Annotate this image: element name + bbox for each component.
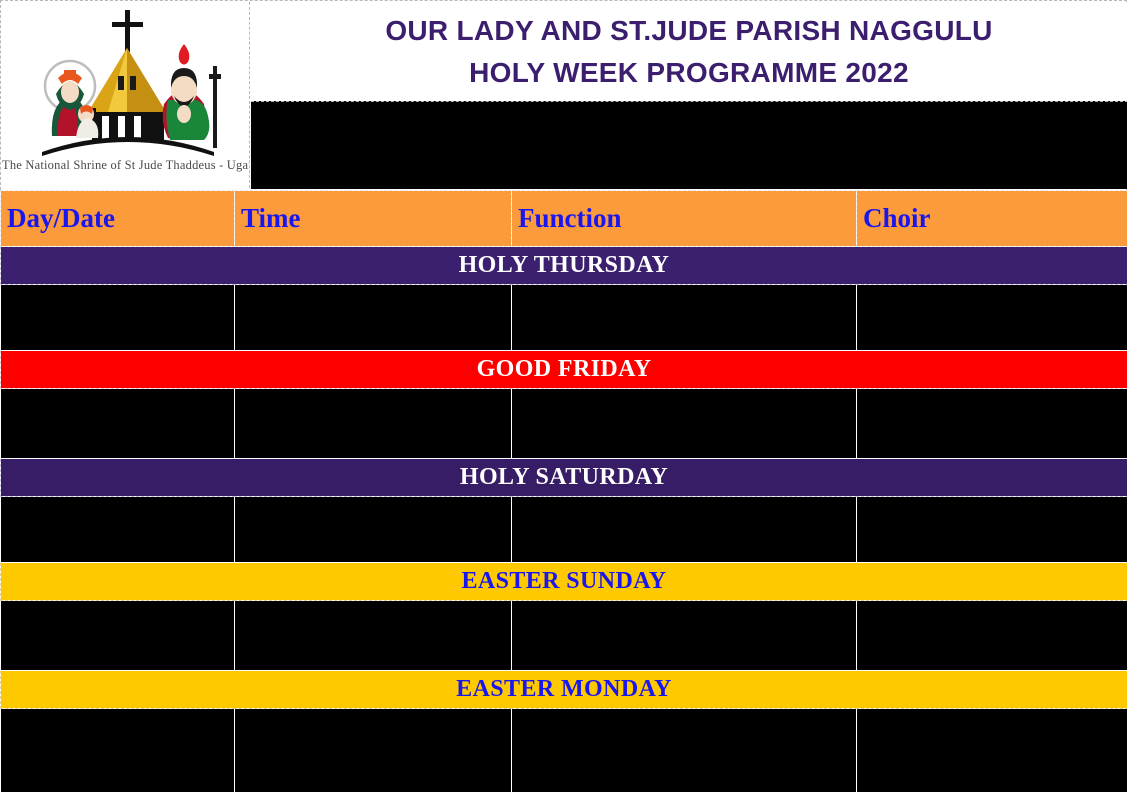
cell-choir [857,285,1127,351]
document-header: The National Shrine of St Jude Thaddeus … [0,0,1127,190]
cell-function [512,285,857,351]
column-header-time: Time [235,191,512,247]
table-row [1,497,1127,563]
column-header-choir: Choir [857,191,1127,247]
cell-function [512,709,857,793]
cell-time [235,497,512,563]
cross-icon [112,10,143,52]
table-row [1,389,1127,459]
section-banner-good-friday: GOOD FRIDAY [1,351,1127,389]
section-banner-label-easter-sunday: EASTER SUNDAY [1,563,1127,601]
section-banner-label-good-friday: GOOD FRIDAY [1,351,1127,389]
our-lady-figure-icon [45,61,98,138]
cell-time [235,601,512,671]
st-jude-figure-icon [163,44,221,148]
table-row [1,601,1127,671]
section-banner-easter-monday: EASTER MONDAY [1,671,1127,709]
cell-function [512,497,857,563]
logo-caption: The National Shrine of St Jude Thaddeus … [2,158,250,173]
section-banner-label-holy-saturday: HOLY SATURDAY [1,459,1127,497]
cell-function [512,389,857,459]
flame-icon [179,44,190,65]
column-header-day-date: Day/Date [1,191,235,247]
holy-week-schedule-table: Day/Date Time Function Choir HOLY THURSD… [0,190,1127,793]
logo-cell: The National Shrine of St Jude Thaddeus … [2,2,250,188]
cell-day-date [1,389,235,459]
table-header-row: Day/Date Time Function Choir [1,191,1127,247]
cell-time [235,709,512,793]
cell-time [235,389,512,459]
cell-function [512,601,857,671]
table-row [1,285,1127,351]
cell-choir [857,709,1127,793]
section-banner-label-easter-monday: EASTER MONDAY [1,671,1127,709]
cell-time [235,285,512,351]
cell-day-date [1,285,235,351]
table-row [1,709,1127,793]
title-line-programme: HOLY WEEK PROGRAMME 2022 [469,52,909,94]
cell-day-date [1,601,235,671]
cell-choir [857,497,1127,563]
cell-choir [857,601,1127,671]
column-header-function: Function [512,191,857,247]
cell-day-date [1,709,235,793]
section-banner-easter-sunday: EASTER SUNDAY [1,563,1127,601]
table-body: Day/Date Time Function Choir HOLY THURSD… [1,191,1127,793]
title-line-parish: OUR LADY AND ST.JUDE PARISH NAGGULU [385,10,992,52]
section-banner-holy-thursday: HOLY THURSDAY [1,247,1127,285]
golden-dome-icon [88,48,166,112]
cell-day-date [1,497,235,563]
section-banner-holy-saturday: HOLY SATURDAY [1,459,1127,497]
cell-choir [857,389,1127,459]
header-blank-block [251,101,1127,189]
holy-week-programme-page: The National Shrine of St Jude Thaddeus … [0,0,1127,808]
section-banner-label-holy-thursday: HOLY THURSDAY [1,247,1127,285]
page-title: OUR LADY AND ST.JUDE PARISH NAGGULU HOLY… [251,2,1127,100]
shrine-logo [8,4,248,164]
